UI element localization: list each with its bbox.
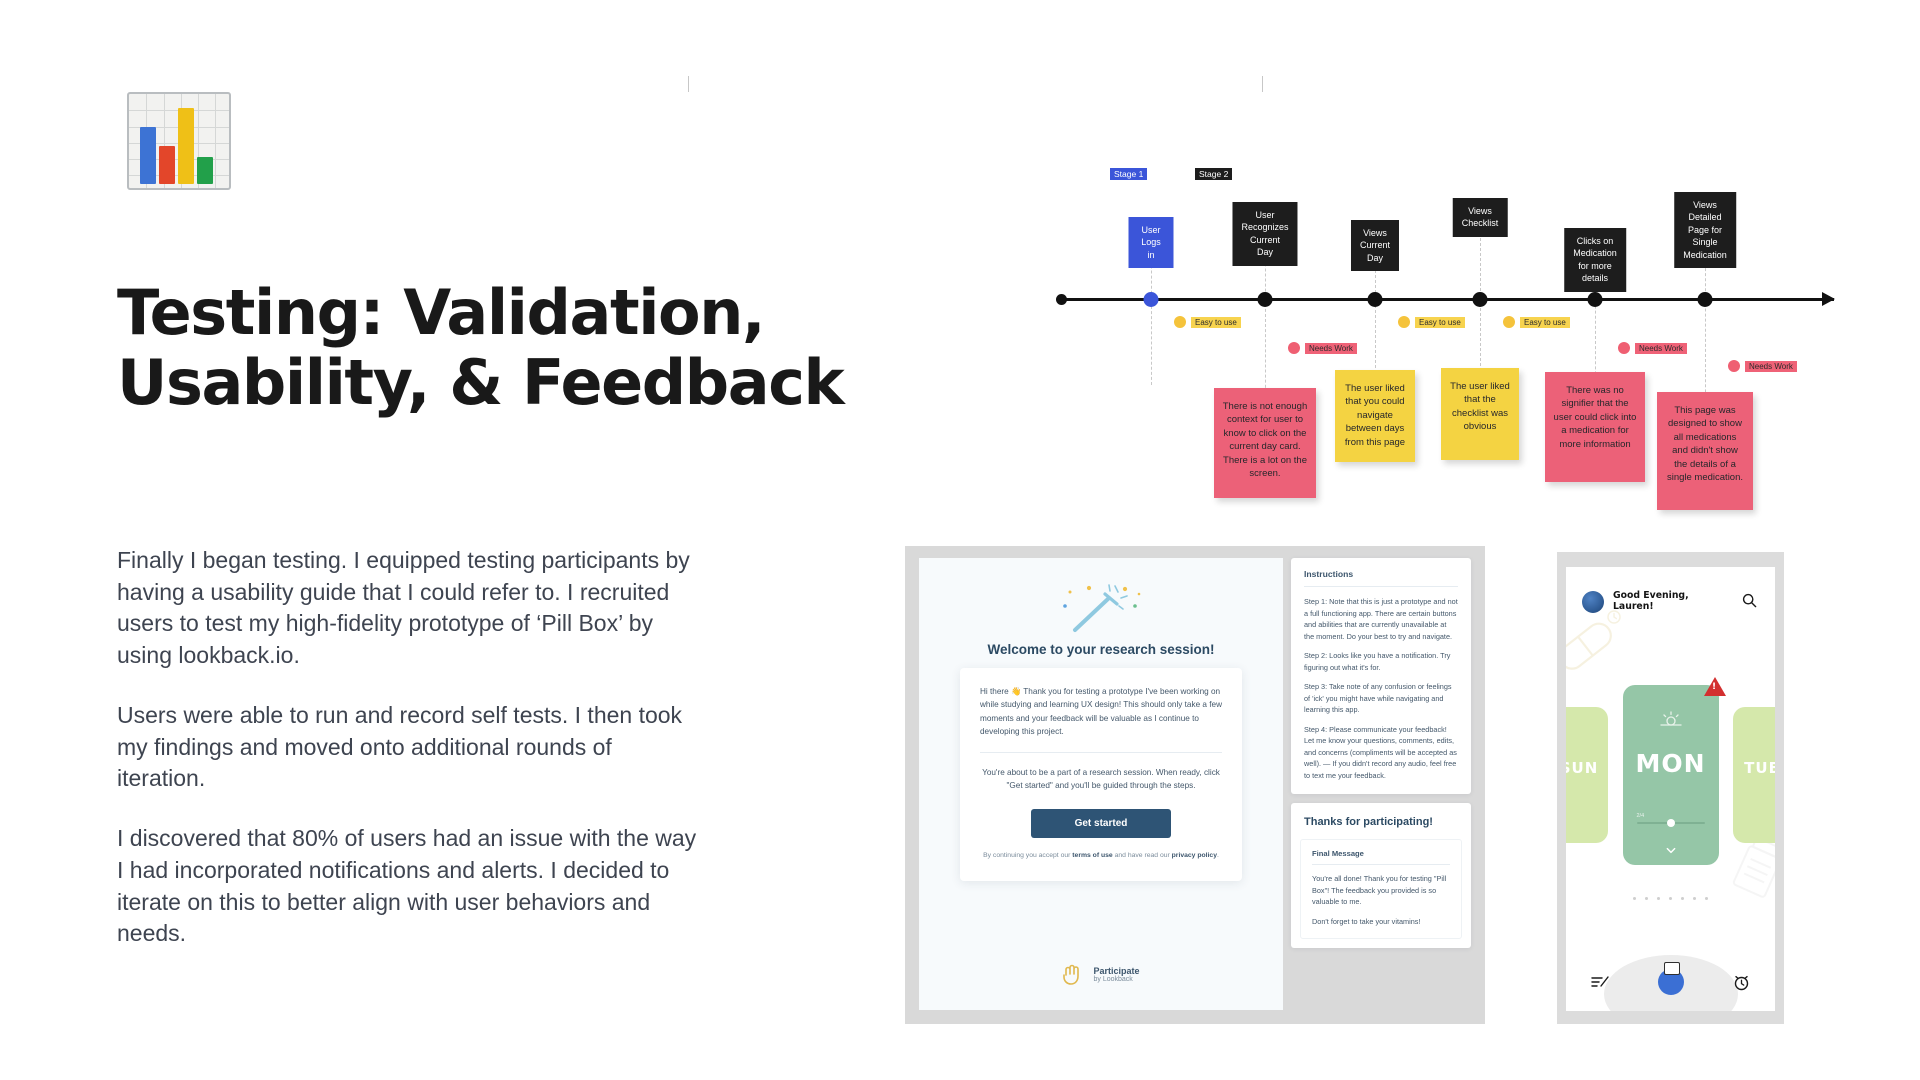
sticky-note-2: There is not enough context for user to … [1214,388,1316,498]
lookback-by: by Lookback [1093,976,1139,983]
stage-tag-2: Stage 2 [1195,168,1232,180]
timeline-node-4 [1473,292,1488,307]
carousel-dot[interactable] [1657,897,1660,900]
sentiment-1: Easy to use [1174,316,1241,328]
sentiment-3: Easy to use [1398,316,1465,328]
slide-canvas: Testing: Validation, Usability, & Feedba… [0,0,1920,1080]
sticky-note-5: There was no signifier that the user cou… [1545,372,1645,482]
journey-map: Stage 1 Stage 2 User Logs in Easy to use… [1060,170,1850,510]
thanks-title: Thanks for participating! [1291,803,1471,839]
action-label-4: Views Checklist [1453,198,1508,237]
body-copy: Finally I began testing. I equipped test… [117,545,697,950]
phone-screen: Good Evening, Lauren! SUN TUE [1566,567,1775,1011]
lookback-screenshot: Welcome to your research session! Hi the… [905,546,1485,1024]
sentiment-pip-icon [1618,342,1630,354]
instructions-title: Instructions [1291,558,1471,586]
terms-of-use-link[interactable]: terms of use [1072,852,1112,859]
legal-suffix: . [1217,852,1219,859]
day-label-next: TUE [1733,759,1775,777]
day-carousel: SUN TUE MON 2/4 [1566,685,1775,865]
action-label-6: Views Detailed Page for Single Medicatio… [1674,192,1736,268]
carousel-dot[interactable] [1645,897,1648,900]
sentiment-pip-icon [1398,316,1410,328]
phone-header: Good Evening, Lauren! [1582,591,1689,613]
lookback-subtext: You're about to be a part of a research … [980,766,1222,793]
sentiment-label-5: Needs Work [1635,343,1687,354]
lookback-welcome-screen: Welcome to your research session! Hi the… [919,558,1283,1010]
carousel-dot[interactable] [1633,897,1636,900]
sentiment-pip-icon [1503,316,1515,328]
final-message-body: You're all done! Thank you for testing "… [1301,865,1461,938]
final-message-title: Final Message [1301,840,1461,864]
search-icon[interactable] [1742,593,1757,608]
lookback-brand: Participate [1093,966,1139,976]
instructions-panel: Instructions Step 1: Note that this is j… [1291,558,1471,794]
divider [980,752,1222,753]
timeline-node-3 [1368,292,1383,307]
avatar[interactable] [1582,591,1604,613]
day-card-prev[interactable]: SUN [1566,707,1608,843]
timeline-axis [1060,298,1834,301]
timeline-arrow-icon [1822,292,1835,306]
day-label-current: MON [1623,749,1719,778]
alarm-icon[interactable] [1733,974,1750,991]
action-label-5: Clicks on Medication for more details [1564,228,1626,292]
timeline-node-6 [1698,292,1713,307]
page-title: Testing: Validation, Usability, & Feedba… [117,278,997,418]
carousel-dot[interactable] [1693,897,1696,900]
sentiment-label-2: Needs Work [1305,343,1357,354]
pointing-hand-icon [1062,962,1084,986]
sentiment-label-1: Easy to use [1191,317,1241,328]
guide-tick-left [688,76,689,92]
magic-wand-icon [1053,582,1149,636]
lookback-intro-card: Hi there 👋 Thank you for testing a proto… [960,668,1242,881]
sticky-note-3: The user liked that you could navigate b… [1335,370,1415,462]
timeline-node-5 [1588,292,1603,307]
sticky-note-6: This page was designed to show all medic… [1657,392,1753,510]
instruction-step-3: Step 3: Take note of any confusion or fe… [1304,681,1458,716]
sentiment-6: Needs Work [1728,360,1797,372]
sentiment-label-3: Easy to use [1415,317,1465,328]
lookback-footer: Participate by Lookback [919,962,1283,986]
lookback-legal-text: By continuing you accept our terms of us… [980,850,1222,861]
action-label-2: User Recognizes Current Day [1232,202,1297,266]
progress-track[interactable] [1637,822,1705,824]
progress-knob[interactable] [1667,819,1675,827]
bottom-nav [1566,969,1775,995]
final-message-2: Don't forget to take your vitamins! [1312,916,1450,928]
legal-prefix: By continuing you accept our [983,852,1072,859]
action-label-1: User Logs in [1129,217,1174,268]
body-paragraph-2: Users were able to run and record self t… [117,700,697,795]
bar-chart-emoji [127,92,231,190]
instructions-body: Step 1: Note that this is just a prototy… [1291,587,1471,794]
instruction-step-2: Step 2: Looks like you have a notificati… [1304,650,1458,673]
sentiment-pip-icon [1288,342,1300,354]
lookback-intro-text: Hi there 👋 Thank you for testing a proto… [980,685,1222,738]
timeline-start-dot [1056,294,1067,305]
day-card-next[interactable]: TUE [1733,707,1775,843]
sentiment-pip-icon [1174,316,1186,328]
instruction-step-4: Step 4: Please communicate your feedback… [1304,724,1458,782]
sentiment-2: Needs Work [1288,342,1357,354]
stage-tag-1: Stage 1 [1110,168,1147,180]
get-started-button[interactable]: Get started [1031,809,1171,838]
final-message-1: You're all done! Thank you for testing "… [1312,873,1450,908]
chevron-down-icon[interactable] [1665,845,1676,856]
alert-badge-icon[interactable] [1704,677,1726,696]
phone-mockup: Good Evening, Lauren! SUN TUE [1557,552,1784,1024]
timeline-node-2 [1258,292,1273,307]
day-card-current[interactable]: MON 2/4 [1623,685,1719,865]
carousel-dots[interactable] [1566,897,1775,900]
checklist-icon[interactable] [1591,974,1609,990]
progress-control[interactable]: 2/4 [1637,813,1705,824]
sentiment-4: Easy to use [1503,316,1570,328]
sentiment-label-6: Needs Work [1745,361,1797,372]
lookback-welcome-title: Welcome to your research session! [919,642,1283,657]
legal-mid: and have read our [1113,852,1172,859]
lookback-side-column: Instructions Step 1: Note that this is j… [1291,558,1471,948]
carousel-dot[interactable] [1669,897,1672,900]
carousel-dot[interactable] [1681,897,1684,900]
greeting-text: Good Evening, Lauren! [1613,591,1689,613]
carousel-dot[interactable] [1705,897,1708,900]
body-paragraph-3: I discovered that 80% of users had an is… [117,823,697,950]
sunrise-icon [1660,711,1682,727]
body-paragraph-1: Finally I began testing. I equipped test… [117,545,697,672]
day-label-prev: SUN [1566,759,1608,777]
pillbox-fab-icon[interactable] [1658,969,1684,995]
action-label-3: Views Current Day [1351,220,1399,271]
sticky-note-4: The user liked that the checklist was ob… [1441,368,1519,460]
timeline-node-1 [1144,292,1159,307]
privacy-policy-link[interactable]: privacy policy [1172,852,1217,859]
instruction-step-1: Step 1: Note that this is just a prototy… [1304,596,1458,642]
sentiment-label-4: Easy to use [1520,317,1570,328]
guide-tick-right [1262,76,1263,92]
sentiment-pip-icon [1728,360,1740,372]
sentiment-5: Needs Work [1618,342,1687,354]
thanks-panel: Thanks for participating! Final Message … [1291,803,1471,948]
